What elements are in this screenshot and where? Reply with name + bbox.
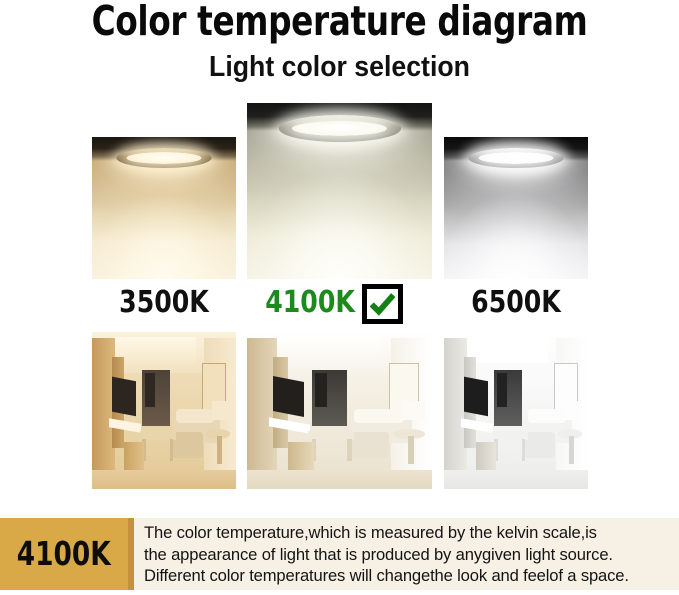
kelvin-label-3500k: 3500K xyxy=(104,286,225,320)
ceiling-fixture-cool xyxy=(468,148,563,168)
room-scene-cool xyxy=(444,332,588,489)
description-badge-label: 4100K xyxy=(17,536,111,572)
description-text: The color temperature,which is measured … xyxy=(134,518,679,590)
page-subtitle: Light color selection xyxy=(27,50,652,84)
kelvin-label-4100k: 4100K xyxy=(259,286,355,320)
ceiling-fixture-warm xyxy=(116,148,211,168)
description-line-2: the appearance of light that is produced… xyxy=(144,544,673,566)
light-swatch-4100k[interactable] xyxy=(247,103,432,279)
light-cone-cool xyxy=(448,173,583,280)
light-cone-warm xyxy=(96,174,231,279)
room-photo-6500k[interactable] xyxy=(444,332,588,489)
page-title: Color temperature diagram xyxy=(68,0,611,44)
description-line-3: Different color temperatures will change… xyxy=(144,565,673,587)
light-cone-neutral xyxy=(251,145,429,279)
selected-checkbox[interactable] xyxy=(362,284,403,324)
room-photo-3500k[interactable] xyxy=(92,332,236,489)
room-photo-4100k[interactable] xyxy=(247,332,432,489)
room-scene-neutral xyxy=(247,332,432,489)
description-bar: 4100K The color temperature,which is mea… xyxy=(0,518,679,590)
light-swatch-3500k[interactable] xyxy=(92,137,236,279)
kelvin-label-6500k: 6500K xyxy=(456,286,577,320)
check-mark-icon xyxy=(367,289,398,319)
light-swatch-6500k[interactable] xyxy=(444,137,588,279)
description-line-1: The color temperature,which is measured … xyxy=(144,522,673,544)
room-scene-warm xyxy=(92,332,236,489)
description-badge: 4100K xyxy=(0,518,134,590)
